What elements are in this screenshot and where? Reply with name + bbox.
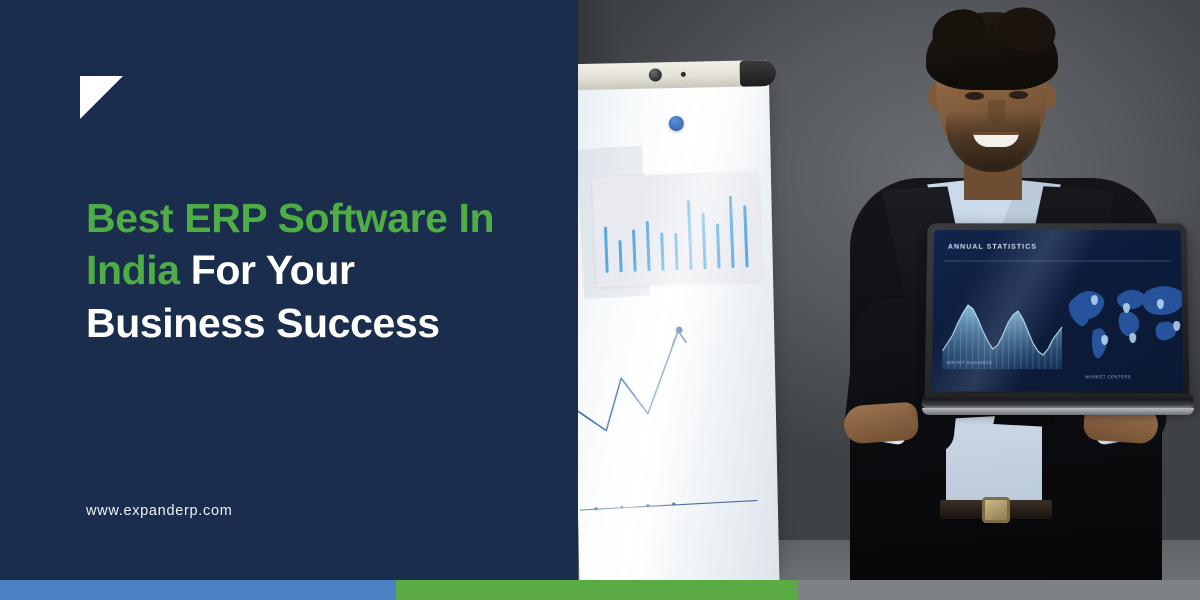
laptop-screen: ANNUAL STATISTICS	[932, 230, 1184, 391]
laptop-keyboard-base	[920, 394, 1196, 409]
hand-left	[843, 401, 919, 444]
headline-line-1: Best ERP Software In	[86, 195, 494, 241]
whiteboard-flipchart	[578, 60, 791, 580]
screen-title: ANNUAL STATISTICS	[948, 244, 1037, 251]
flipchart-rail-cap	[740, 60, 777, 87]
accent-bar-blue	[0, 580, 396, 600]
page-title: Best ERP Software In India For Your Busi…	[86, 192, 556, 349]
screen-label-market-centers: MARKET CENTERS	[1085, 374, 1131, 379]
bottom-accent-bar	[0, 580, 1200, 600]
hero-photo: ANNUAL STATISTICS	[578, 0, 1200, 580]
brand-logo[interactable]	[80, 76, 123, 119]
belt-buckle	[982, 497, 1010, 523]
screen-divider	[944, 261, 1172, 262]
flipchart-knob-icon	[649, 68, 662, 81]
nose	[988, 100, 1005, 126]
headline-line-2-green: India	[86, 247, 180, 293]
accent-bar-green	[396, 580, 797, 600]
world-map-graphic	[1063, 265, 1183, 377]
flipchart-paper	[578, 84, 779, 580]
laptop: ANNUAL STATISTICS	[926, 222, 1194, 430]
laptop-base-edge	[922, 408, 1194, 415]
headline-line-3: Business Success	[86, 300, 440, 346]
flipchart-hole	[681, 72, 686, 77]
accent-bar-grey	[797, 580, 1200, 600]
erp-promo-banner: ANNUAL STATISTICS	[0, 0, 1200, 600]
headline-line-2-white: For Your	[191, 247, 355, 293]
website-url[interactable]: www.expanderp.com	[86, 503, 233, 519]
eye-right	[1009, 91, 1028, 99]
triangle-flag-logo-icon	[80, 76, 123, 119]
paper-sheen	[578, 84, 779, 580]
laptop-lid: ANNUAL STATISTICS	[924, 223, 1189, 400]
left-content-panel: Best ERP Software In India For Your Busi…	[0, 0, 578, 600]
eye-left	[965, 92, 984, 100]
screen-label-import-business: IMPORT BUSINESS	[946, 360, 992, 365]
flipchart-top-rail	[578, 60, 772, 90]
annual-statistics-area-chart	[942, 271, 1063, 369]
